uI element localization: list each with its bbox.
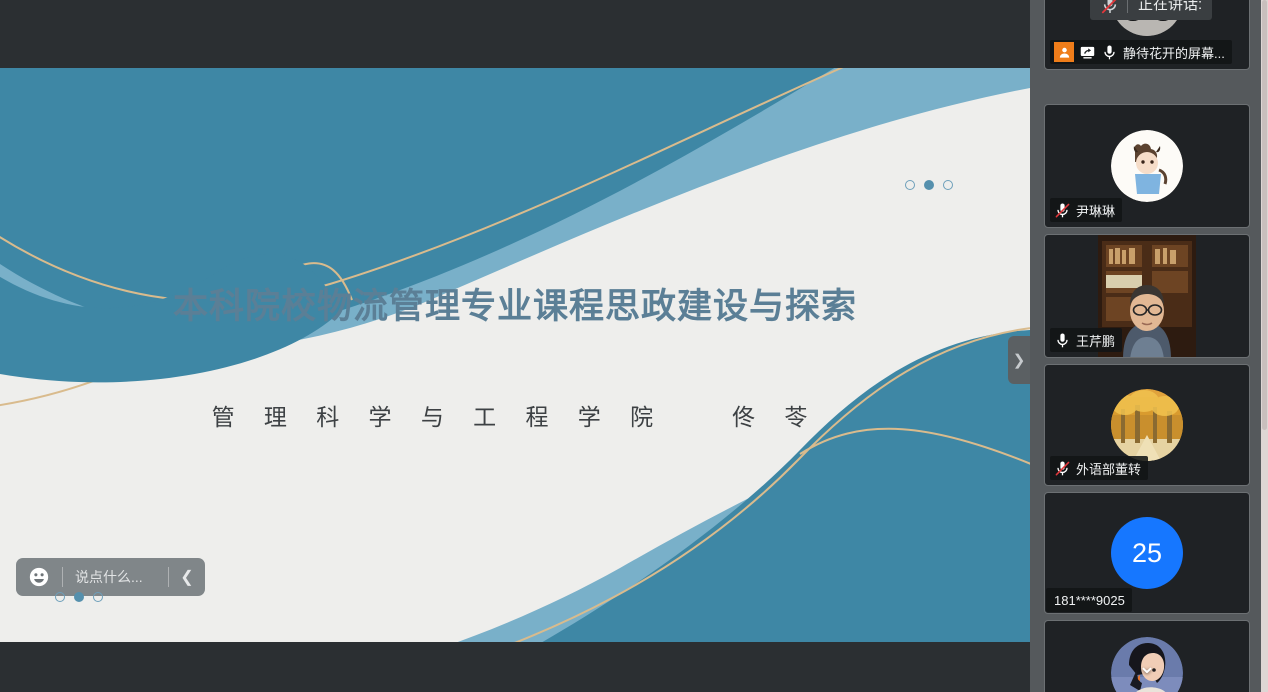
participant-name: 静待花开的屏幕... (1123, 43, 1225, 62)
chevron-right-icon[interactable]: ❯ (1008, 336, 1030, 384)
chat-placeholder[interactable]: 说点什么... (63, 558, 168, 596)
initials-text: 25 (1132, 538, 1162, 569)
participant-namebar: 尹琳琳 (1050, 198, 1122, 222)
meeting-window: 本科院校物流管理专业课程思政建设与探索 管 理 科 学 与 工 程 学 院 佟 … (0, 0, 1268, 692)
slide-pager-bottom[interactable] (55, 592, 103, 602)
slide-pager-top[interactable] (905, 180, 953, 190)
mic-muted-icon (1100, 0, 1117, 12)
host-person-icon (1054, 42, 1074, 62)
participant-namebar: 王芹鹏 (1050, 328, 1122, 352)
chat-input-bar[interactable]: 说点什么... ❮ (16, 558, 205, 596)
pager-dot-active[interactable] (924, 180, 934, 190)
tooltip-divider (1127, 0, 1128, 13)
speaking-label: 正在讲话: (1138, 0, 1202, 14)
blue-circle-number: 25 (1111, 517, 1183, 589)
participants-scrollbar[interactable] (1261, 0, 1268, 692)
pager-dot-active[interactable] (74, 592, 84, 602)
cartoon-boy-avatar (1111, 130, 1183, 202)
participant-name: 王芹鹏 (1076, 331, 1115, 350)
screen-share-icon (1079, 44, 1096, 61)
scrollbar-thumb[interactable] (1262, 0, 1267, 430)
presentation-slide[interactable]: 本科院校物流管理专业课程思政建设与探索 管 理 科 学 与 工 程 学 院 佟 … (0, 68, 1030, 642)
slide-subtitle: 管 理 科 学 与 工 程 学 院 佟 苓 (0, 398, 1030, 432)
participant-tile[interactable]: 外语部董转 (1044, 364, 1250, 486)
mic-on-icon (1054, 332, 1071, 349)
pager-dot[interactable] (943, 180, 953, 190)
mic-on-icon (1101, 44, 1118, 61)
smiley-icon[interactable] (16, 558, 62, 596)
participant-namebar: 外语部董转 (1050, 456, 1148, 480)
participant-name: 外语部董转 (1076, 459, 1141, 478)
pager-dot[interactable] (905, 180, 915, 190)
participant-tile[interactable]: 尹琳琳 (1044, 104, 1250, 228)
mic-muted-icon (1054, 460, 1071, 477)
pager-dot[interactable] (93, 592, 103, 602)
participant-tile[interactable]: 25 181****9025 (1044, 492, 1250, 614)
participant-tile[interactable]: 王芹鹏 (1044, 234, 1250, 358)
speaking-now-tooltip: 正在讲话: (1090, 0, 1212, 20)
slide-title: 本科院校物流管理专业课程思政建设与探索 (0, 278, 1030, 329)
slide-decoration (0, 68, 1030, 642)
participant-namebar: 181****9025 (1046, 588, 1132, 612)
participant-name: 尹琳琳 (1076, 201, 1115, 220)
chevron-down-icon[interactable]: ⌄ (1138, 655, 1156, 677)
participant-namebar: 静待花开的屏幕... (1050, 40, 1232, 64)
mic-muted-icon (1054, 202, 1071, 219)
participants-rail[interactable]: 静待花开的屏幕... (1030, 0, 1268, 692)
participant-name: 181****9025 (1050, 593, 1125, 608)
pager-dot[interactable] (55, 592, 65, 602)
shared-screen-stage: 本科院校物流管理专业课程思政建设与探索 管 理 科 学 与 工 程 学 院 佟 … (0, 0, 1030, 692)
participant-tile[interactable]: ⌄ (1044, 620, 1250, 692)
autumn-forest-avatar (1111, 389, 1183, 461)
chevron-left-icon[interactable]: ❮ (169, 558, 205, 596)
